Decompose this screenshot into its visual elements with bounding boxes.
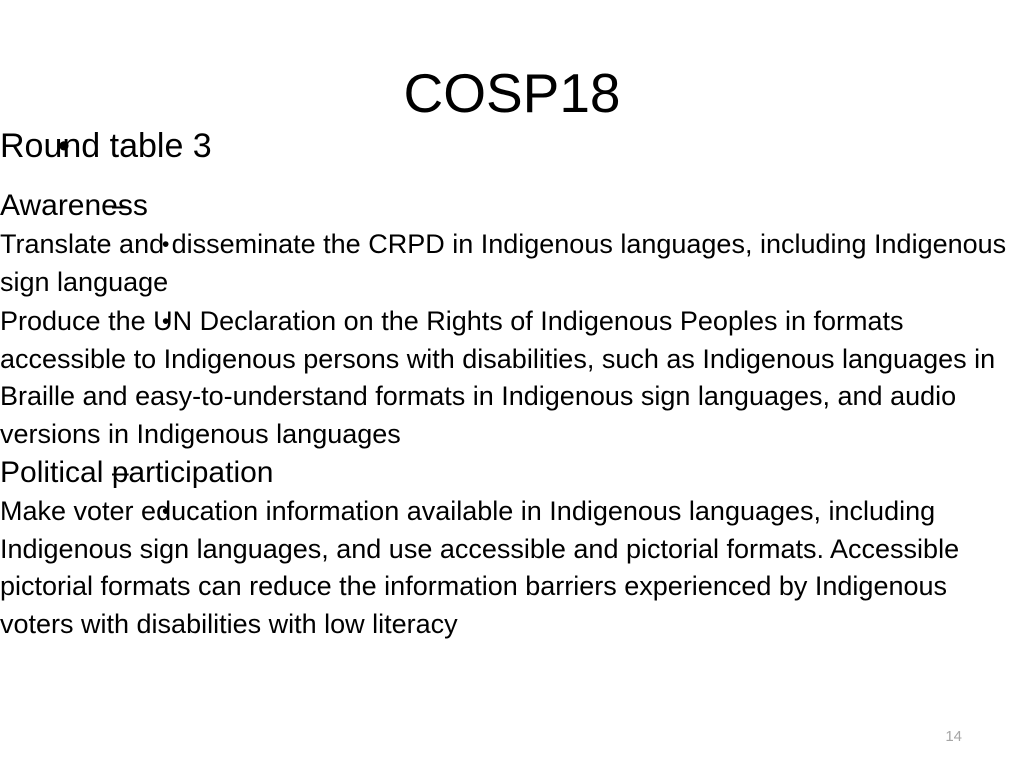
bullet-disc-icon: • [162,303,169,341]
list-item-level1: • Round table 3 [0,124,1024,168]
bullet-disc-icon: • [162,226,169,264]
bullet-disc-icon: • [162,493,169,531]
list-item-text: Translate and disseminate the CRPD in In… [0,226,1024,301]
bullet-dash-icon: – [112,186,129,226]
list-item-text: Make voter education information availab… [0,493,1024,643]
list-item-level1-label: Round table 3 [0,127,212,165]
list-item-text: Produce the UN Declaration on the Rights… [0,303,1024,453]
bullet-dash-icon: – [112,453,129,493]
list-item-level2-political-participation: – Political participation [0,453,1024,493]
list-item: • Make voter education information avail… [0,493,1024,643]
page-number: 14 [945,728,962,746]
bullet-disc-icon: • [58,124,70,168]
list-item: • Produce the UN Declaration on the Righ… [0,303,1024,453]
list-item-level2-awareness: – Awareness [0,186,1024,226]
section-heading-political-participation: Political participation [0,456,273,489]
slide: COSP18 • Round table 3 – Awareness • Tra… [0,0,1024,768]
page-title: COSP18 [0,62,1024,124]
slide-body: • Round table 3 – Awareness • Translate … [0,124,1024,643]
spacer [0,168,1024,186]
list-item: • Translate and disseminate the CRPD in … [0,226,1024,301]
bullet-list-root: • Round table 3 – Awareness • Translate … [0,124,1024,643]
